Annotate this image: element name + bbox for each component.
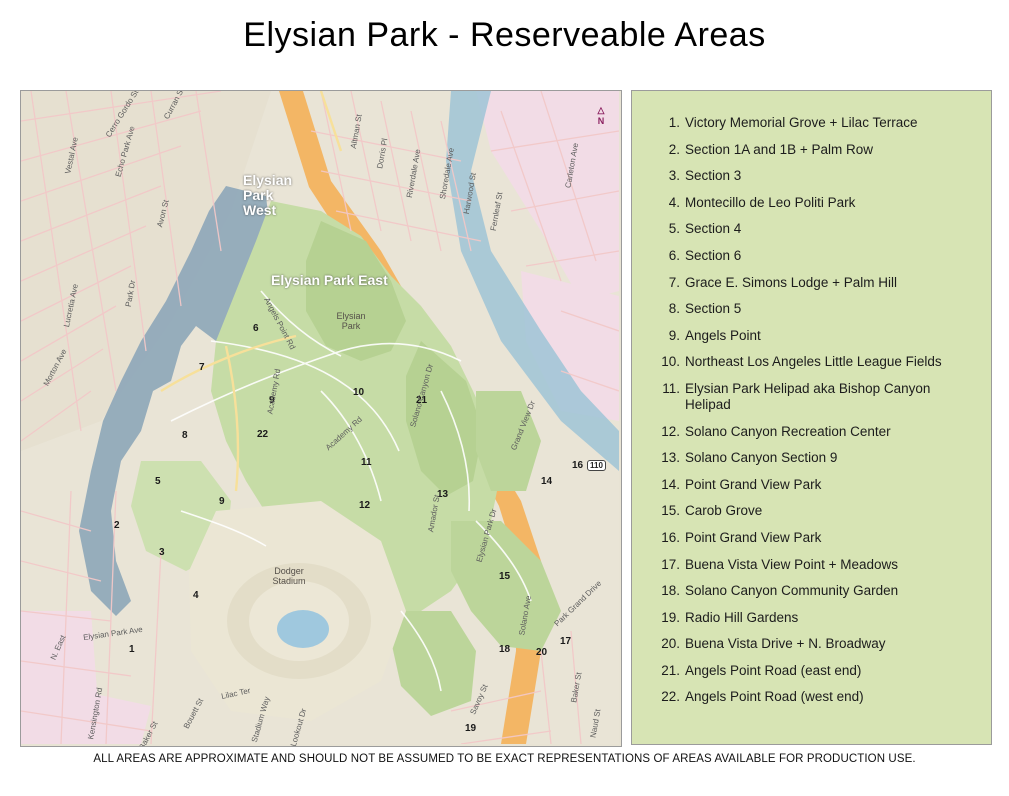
legend-item-number: 16. [656, 530, 685, 546]
legend-item-number: 2. [656, 142, 685, 158]
legend-item-number: 3. [656, 168, 685, 184]
legend-item-label: Carob Grove [685, 503, 977, 519]
legend-item-label: Solano Canyon Section 9 [685, 450, 977, 466]
legend-item-label: Montecillo de Leo Politi Park [685, 195, 977, 211]
legend-item-number: 14. [656, 477, 685, 493]
legend-item-number: 20. [656, 636, 685, 652]
legend-item-number: 15. [656, 503, 685, 519]
highway-shield-110: 110 [587, 460, 606, 471]
legend-item[interactable]: 15. Carob Grove [656, 503, 977, 519]
legend-item[interactable]: 9. Angels Point [656, 328, 977, 344]
footer-disclaimer: ALL AREAS ARE APPROXIMATE AND SHOULD NOT… [0, 753, 1009, 765]
legend-item[interactable]: 1. Victory Memorial Grove + Lilac Terrac… [656, 115, 977, 131]
legend-item-number: 9. [656, 328, 685, 344]
legend-item[interactable]: 3. Section 3 [656, 168, 977, 184]
legend-item[interactable]: 6. Section 6 [656, 248, 977, 264]
map-panel[interactable]: ElysianParkWest Elysian Park East Dodger… [20, 90, 622, 747]
legend-item[interactable]: 4. Montecillo de Leo Politi Park [656, 195, 977, 211]
legend-item[interactable]: 16. Point Grand View Park [656, 530, 977, 546]
map-graphic [21, 91, 619, 744]
legend-item-label: Radio Hill Gardens [685, 610, 977, 626]
legend-item-number: 22. [656, 689, 685, 705]
legend-item-number: 10. [656, 354, 685, 370]
legend-item-label: Solano Canyon Recreation Center [685, 424, 977, 440]
legend-item-label: Angels Point Road (east end) [685, 663, 977, 679]
legend-item[interactable]: 18. Solano Canyon Community Garden [656, 583, 977, 599]
legend-item[interactable]: 12. Solano Canyon Recreation Center [656, 424, 977, 440]
legend-item-number: 12. [656, 424, 685, 440]
legend-item-label: Section 6 [685, 248, 977, 264]
legend-item-number: 5. [656, 221, 685, 237]
legend-item[interactable]: 2. Section 1A and 1B + Palm Row [656, 142, 977, 158]
legend-item-label: Buena Vista View Point + Meadows [685, 557, 977, 573]
legend-item[interactable]: 21. Angels Point Road (east end) [656, 663, 977, 679]
legend-item-number: 4. [656, 195, 685, 211]
legend-item-label: Section 1A and 1B + Palm Row [685, 142, 977, 158]
legend-item[interactable]: 20. Buena Vista Drive + N. Broadway [656, 636, 977, 652]
legend-item[interactable]: 14. Point Grand View Park [656, 477, 977, 493]
legend-item-label: Solano Canyon Community Garden [685, 583, 977, 599]
legend-item-number: 8. [656, 301, 685, 317]
legend-panel: 1. Victory Memorial Grove + Lilac Terrac… [631, 90, 992, 745]
legend-item[interactable]: 8. Section 5 [656, 301, 977, 317]
legend-item-number: 11. [656, 381, 685, 413]
legend-item-label: Northeast Los Angeles Little League Fiel… [685, 354, 977, 370]
legend-item[interactable]: 19. Radio Hill Gardens [656, 610, 977, 626]
legend-item[interactable]: 11. Elysian Park Helipad aka Bishop Cany… [656, 381, 977, 413]
legend-item-label: Grace E. Simons Lodge + Palm Hill [685, 275, 977, 291]
legend-item[interactable]: 5. Section 4 [656, 221, 977, 237]
legend-item-label: Victory Memorial Grove + Lilac Terrace [685, 115, 977, 131]
legend-item[interactable]: 13. Solano Canyon Section 9 [656, 450, 977, 466]
legend-item-label: Point Grand View Park [685, 477, 977, 493]
legend-item-number: 13. [656, 450, 685, 466]
legend-item-label: Angels Point Road (west end) [685, 689, 977, 705]
legend-item-number: 1. [656, 115, 685, 131]
legend-item-label: Angels Point [685, 328, 977, 344]
legend-item[interactable]: 10. Northeast Los Angeles Little League … [656, 354, 977, 370]
legend-item[interactable]: 17. Buena Vista View Point + Meadows [656, 557, 977, 573]
legend-item-label: Section 4 [685, 221, 977, 237]
content-area: ElysianParkWest Elysian Park East Dodger… [20, 90, 992, 745]
legend-item-label: Point Grand View Park [685, 530, 977, 546]
legend-item-number: 19. [656, 610, 685, 626]
legend-item-label: Section 5 [685, 301, 977, 317]
legend-item-number: 21. [656, 663, 685, 679]
legend-item-number: 6. [656, 248, 685, 264]
legend-item[interactable]: 7. Grace E. Simons Lodge + Palm Hill [656, 275, 977, 291]
legend-item-label: Section 3 [685, 168, 977, 184]
legend-item[interactable]: 22. Angels Point Road (west end) [656, 689, 977, 705]
legend-item-label: Buena Vista Drive + N. Broadway [685, 636, 977, 652]
legend-item-label: Elysian Park Helipad aka Bishop Canyon H… [685, 381, 977, 413]
legend-item-number: 17. [656, 557, 685, 573]
legend-item-number: 7. [656, 275, 685, 291]
page-title: Elysian Park - Reserveable Areas [0, 16, 1009, 55]
legend-item-number: 18. [656, 583, 685, 599]
